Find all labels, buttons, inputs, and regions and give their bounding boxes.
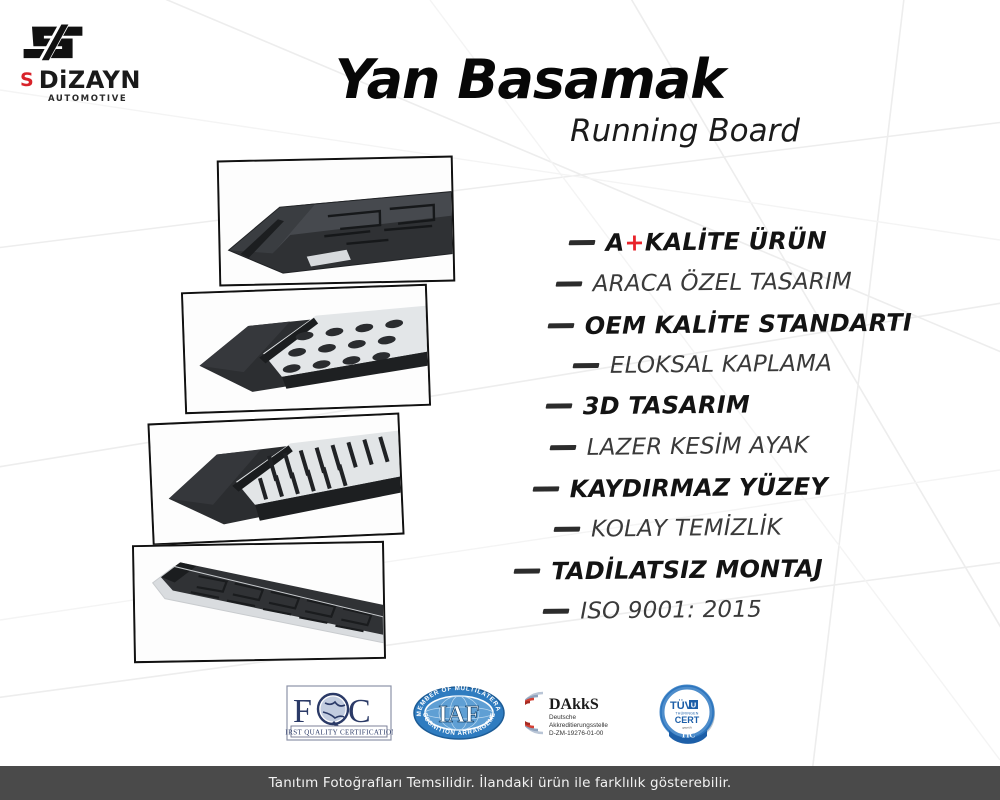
- cert-fqc-caption: FIRST QUALITY CERTIFICATION: [285, 729, 393, 737]
- footer-bar: Tanıtım Fotoğrafları Temsilidir. İlandak…: [0, 766, 1000, 800]
- feature-text: A: [605, 228, 624, 256]
- dash-icon: [549, 445, 576, 450]
- feature-text: ISO 9001: 2015: [580, 596, 762, 624]
- product-banner: S DiZAYN AUTOMOTIVE Yan Basamak Running …: [0, 0, 1000, 800]
- svg-text:geprüft: geprüft: [682, 726, 692, 730]
- dash-icon: [532, 486, 559, 491]
- dash-icon: [572, 363, 599, 368]
- cert-tuv-footer: TIC: [681, 731, 695, 740]
- s-monogram-icon: [18, 18, 88, 66]
- svg-text:F: F: [293, 693, 312, 730]
- cert-tuv-word: CERT: [675, 715, 700, 725]
- feature-text: OEM KALİTE STANDARTI: [585, 308, 912, 339]
- page-title: Yan Basamak: [300, 48, 760, 111]
- dash-icon: [568, 240, 595, 245]
- cert-dakks-line2: Akkreditierungsstelle: [549, 722, 608, 729]
- cert-badge-tuv: TÜV U THÜRINGEN CERT geprüft ZERTIFIZIER…: [655, 682, 721, 744]
- feature-item: KOLAY TEMİZLİK: [312, 507, 782, 553]
- feature-item: LAZER KESİM AYAK: [339, 425, 809, 471]
- footer-disclaimer: Tanıtım Fotoğrafları Temsilidir. İlandak…: [269, 775, 732, 791]
- cert-dakks-line1: Deutsche: [549, 714, 576, 721]
- feature-text: TADİLATSIZ MONTAJ: [551, 554, 823, 585]
- cert-badge-dakks: DAkkS Deutsche Akkreditierungsstelle D-Z…: [525, 687, 637, 739]
- feature-text: ARACA ÖZEL TASARIM: [593, 268, 853, 297]
- dash-icon: [514, 568, 541, 573]
- feature-text: LAZER KESİM AYAK: [587, 432, 810, 460]
- feature-item: ARACA ÖZEL TASARIM: [382, 261, 852, 307]
- logo-accent-letter: S: [20, 71, 34, 90]
- feature-text: 3D TASARIM: [583, 390, 751, 420]
- feature-item: OEM KALİTE STANDARTI: [442, 302, 912, 348]
- feature-highlight: +: [624, 228, 645, 256]
- dash-icon: [555, 281, 582, 286]
- feature-text: KOLAY TEMİZLİK: [591, 514, 782, 542]
- brand-logo: S DiZAYN AUTOMOTIVE: [18, 18, 198, 104]
- feature-item: ELOKSAL KAPLAMA: [362, 343, 832, 389]
- feature-item: KAYDIRMAZ YÜZEY: [358, 466, 828, 512]
- feature-text: ELOKSAL KAPLAMA: [610, 350, 832, 378]
- feature-text: KAYDIRMAZ YÜZEY: [569, 472, 828, 503]
- logo-tagline: AUTOMOTIVE: [48, 94, 198, 104]
- certification-badges: F C FIRST QUALITY CERTIFICATION: [285, 682, 725, 744]
- dash-icon: [547, 323, 574, 328]
- cert-dakks-acronym: DAkkS: [549, 696, 599, 713]
- cert-badge-iaf: IAF MEMBER OF MULTILATERAL RECOGNITION A…: [411, 684, 507, 742]
- dash-icon: [554, 527, 581, 532]
- dash-icon: [543, 609, 570, 614]
- svg-text:C: C: [348, 693, 371, 730]
- feature-item: 3D TASARIM: [280, 384, 750, 430]
- cert-badge-fqc: F C FIRST QUALITY CERTIFICATION: [285, 684, 393, 742]
- logo-name: DiZAYN: [39, 68, 141, 92]
- feature-item: A+KALİTE ÜRÜN: [357, 220, 827, 266]
- feature-text-cont: KALİTE ÜRÜN: [645, 226, 828, 256]
- cert-dakks-line3: D-ZM-19276-01-00: [549, 730, 604, 737]
- page-subtitle: Running Board: [300, 113, 800, 149]
- feature-item: TADİLATSIZ MONTAJ: [353, 548, 823, 594]
- cert-iaf-acronym: IAF: [438, 702, 479, 728]
- feature-item: ISO 9001: 2015: [292, 589, 762, 635]
- dash-icon: [545, 403, 572, 408]
- feature-list: A+KALİTE ÜRÜN ARACA ÖZEL TASARIM OEM KAL…: [455, 222, 925, 632]
- svg-text:U: U: [691, 701, 696, 710]
